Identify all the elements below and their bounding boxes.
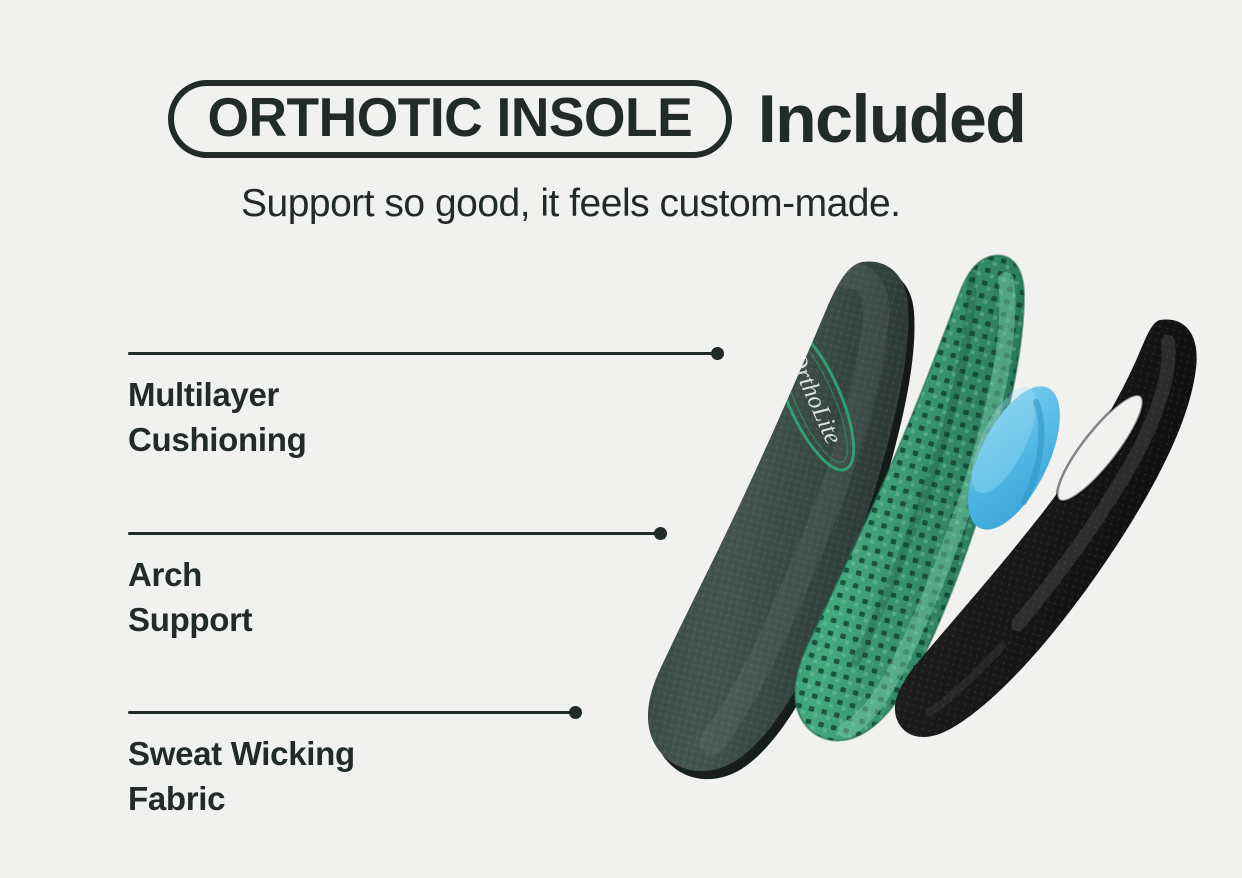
headline: ORTHOTIC INSOLE Included — [168, 80, 1025, 158]
leader-line — [128, 527, 667, 539]
feature-label: Sweat Wicking Fabric — [128, 732, 582, 822]
badge-label: ORTHOTIC INSOLE — [207, 90, 692, 145]
product-image: OrthoLite — [600, 250, 1220, 850]
leader-line-stroke — [128, 711, 571, 714]
feature-label: Arch Support — [128, 553, 667, 643]
leader-line — [128, 706, 582, 718]
feature-callout-sweat-wicking-fabric: Sweat Wicking Fabric — [128, 706, 582, 822]
leader-line-dot — [569, 706, 582, 719]
subtitle: Support so good, it feels custom-made. — [241, 182, 901, 226]
infographic-canvas: ORTHOTIC INSOLE Included Support so good… — [0, 0, 1242, 878]
orthotic-insole-badge: ORTHOTIC INSOLE — [168, 80, 732, 158]
leader-line-stroke — [128, 532, 656, 535]
headline-tail: Included — [758, 85, 1026, 153]
feature-callout-arch-support: Arch Support — [128, 527, 667, 643]
